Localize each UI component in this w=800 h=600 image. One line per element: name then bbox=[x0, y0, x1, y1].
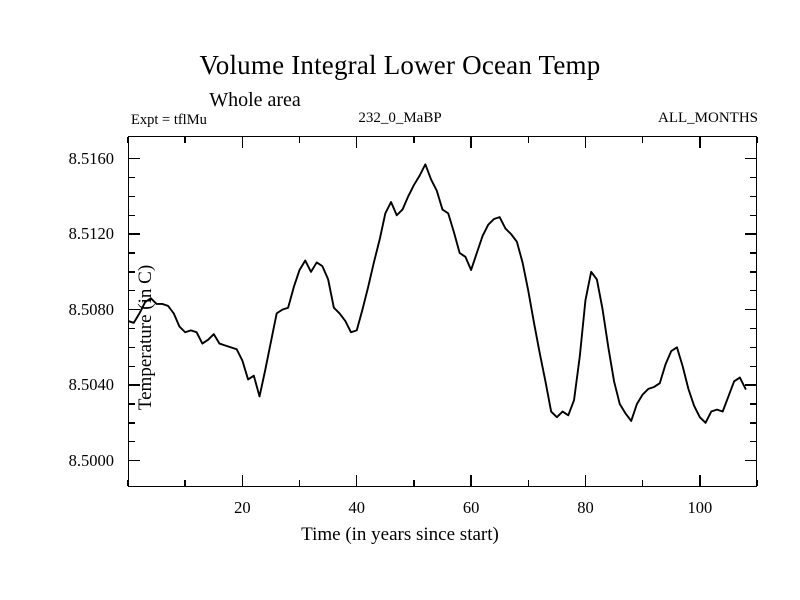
axis-tick bbox=[127, 137, 128, 143]
axis-tick bbox=[585, 137, 586, 148]
axis-tick bbox=[750, 328, 756, 329]
chart-page: Volume Integral Lower Ocean Temp Whole a… bbox=[0, 0, 800, 600]
axis-tick bbox=[750, 347, 756, 348]
y-tick-label: 8.5040 bbox=[0, 375, 114, 395]
axis-tick bbox=[756, 137, 757, 143]
axis-tick bbox=[699, 137, 700, 148]
axis-tick bbox=[745, 460, 756, 461]
y-tick-label: 8.5000 bbox=[0, 451, 114, 471]
axis-tick bbox=[750, 290, 756, 291]
axis-tick bbox=[750, 177, 756, 178]
x-tick-label: 40 bbox=[348, 498, 365, 518]
x-tick-label: 80 bbox=[577, 498, 594, 518]
axis-tick bbox=[413, 480, 414, 486]
axis-tick bbox=[745, 384, 756, 385]
axis-tick bbox=[470, 475, 471, 486]
series-plot-area bbox=[128, 136, 757, 487]
x-tick-label: 60 bbox=[463, 498, 480, 518]
axis-tick bbox=[127, 480, 128, 486]
axis-tick bbox=[750, 271, 756, 272]
page-title: Volume Integral Lower Ocean Temp bbox=[0, 50, 800, 81]
axis-tick bbox=[750, 441, 756, 442]
axis-tick bbox=[750, 196, 756, 197]
axis-tick bbox=[750, 422, 756, 423]
y-tick-label: 8.5160 bbox=[0, 149, 114, 169]
axis-tick bbox=[356, 475, 357, 486]
axis-tick bbox=[129, 158, 140, 159]
axis-tick bbox=[745, 233, 756, 234]
axis-tick bbox=[242, 475, 243, 486]
axis-tick bbox=[750, 403, 756, 404]
axis-tick bbox=[750, 215, 756, 216]
axis-tick bbox=[745, 158, 756, 159]
axis-tick bbox=[356, 137, 357, 148]
axis-tick bbox=[528, 137, 529, 143]
x-tick-label: 20 bbox=[234, 498, 251, 518]
temperature-series-line bbox=[128, 164, 746, 423]
y-tick-label: 8.5120 bbox=[0, 224, 114, 244]
x-tick-label: 100 bbox=[687, 498, 712, 518]
axis-tick bbox=[184, 137, 185, 143]
y-tick-label: 8.5080 bbox=[0, 300, 114, 320]
axis-tick bbox=[242, 137, 243, 148]
axis-tick bbox=[299, 137, 300, 143]
axis-tick bbox=[585, 475, 586, 486]
axis-tick bbox=[642, 137, 643, 143]
axis-tick bbox=[413, 137, 414, 143]
axis-tick bbox=[750, 252, 756, 253]
x-axis-title: Time (in years since start) bbox=[0, 524, 800, 546]
axis-tick bbox=[470, 137, 471, 148]
y-axis-title: Temperature (in C) bbox=[133, 162, 159, 513]
axis-tick bbox=[642, 480, 643, 486]
axis-tick bbox=[184, 480, 185, 486]
axis-tick bbox=[756, 480, 757, 486]
axis-tick bbox=[750, 366, 756, 367]
chart-subtitle: Whole area bbox=[0, 89, 510, 112]
axis-tick bbox=[699, 475, 700, 486]
axis-tick bbox=[299, 480, 300, 486]
axis-tick bbox=[528, 480, 529, 486]
months-annotation: ALL_MONTHS bbox=[658, 110, 758, 127]
axis-tick bbox=[745, 309, 756, 310]
